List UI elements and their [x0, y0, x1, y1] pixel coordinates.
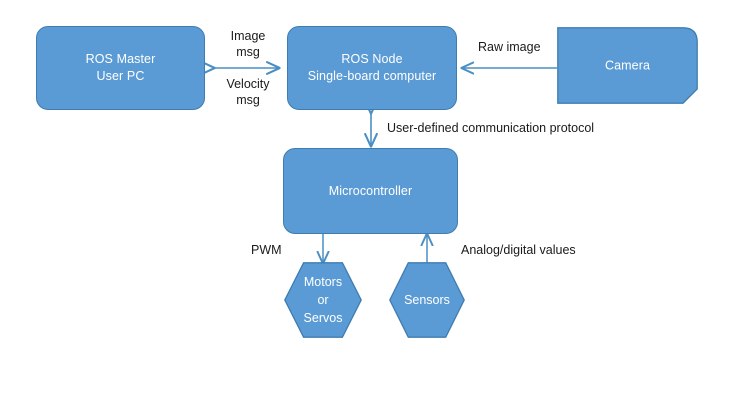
- velocity-msg-line2: msg: [208, 92, 288, 108]
- node-motors-or-servos[interactable]: Motors or Servos: [284, 262, 362, 338]
- edge-label-pwm: PWM: [251, 242, 282, 258]
- node-microcontroller[interactable]: Microcontroller: [283, 148, 458, 234]
- edge-label-image-msg: Image msg: [212, 28, 284, 61]
- velocity-msg-line1: Velocity: [208, 76, 288, 92]
- image-msg-line1: Image: [212, 28, 284, 44]
- node-ros-master[interactable]: ROS Master User PC: [36, 26, 205, 110]
- edge-label-velocity-msg: Velocity msg: [208, 76, 288, 109]
- node-microcontroller-label: Microcontroller: [329, 183, 412, 200]
- hexagon-shape-sensors: [389, 262, 465, 338]
- hexagon-shape-motors: [284, 262, 362, 338]
- node-ros-master-line1: ROS Master: [86, 51, 156, 68]
- node-ros-node-line1: ROS Node: [341, 51, 402, 68]
- diagram-canvas: ROS Master User PC ROS Node Single-board…: [0, 0, 740, 416]
- edge-label-raw-image: Raw image: [478, 39, 541, 55]
- node-camera[interactable]: Camera: [557, 27, 698, 104]
- edge-label-analog-digital-values: Analog/digital values: [461, 242, 576, 258]
- node-ros-node-line2: Single-board computer: [308, 68, 437, 85]
- edge-label-user-defined-protocol: User-defined communication protocol: [387, 120, 594, 136]
- node-sensors[interactable]: Sensors: [389, 262, 465, 338]
- node-camera-label: Camera: [557, 57, 698, 74]
- image-msg-line2: msg: [212, 44, 284, 60]
- node-ros-master-line2: User PC: [97, 68, 145, 85]
- node-ros-node[interactable]: ROS Node Single-board computer: [287, 26, 457, 110]
